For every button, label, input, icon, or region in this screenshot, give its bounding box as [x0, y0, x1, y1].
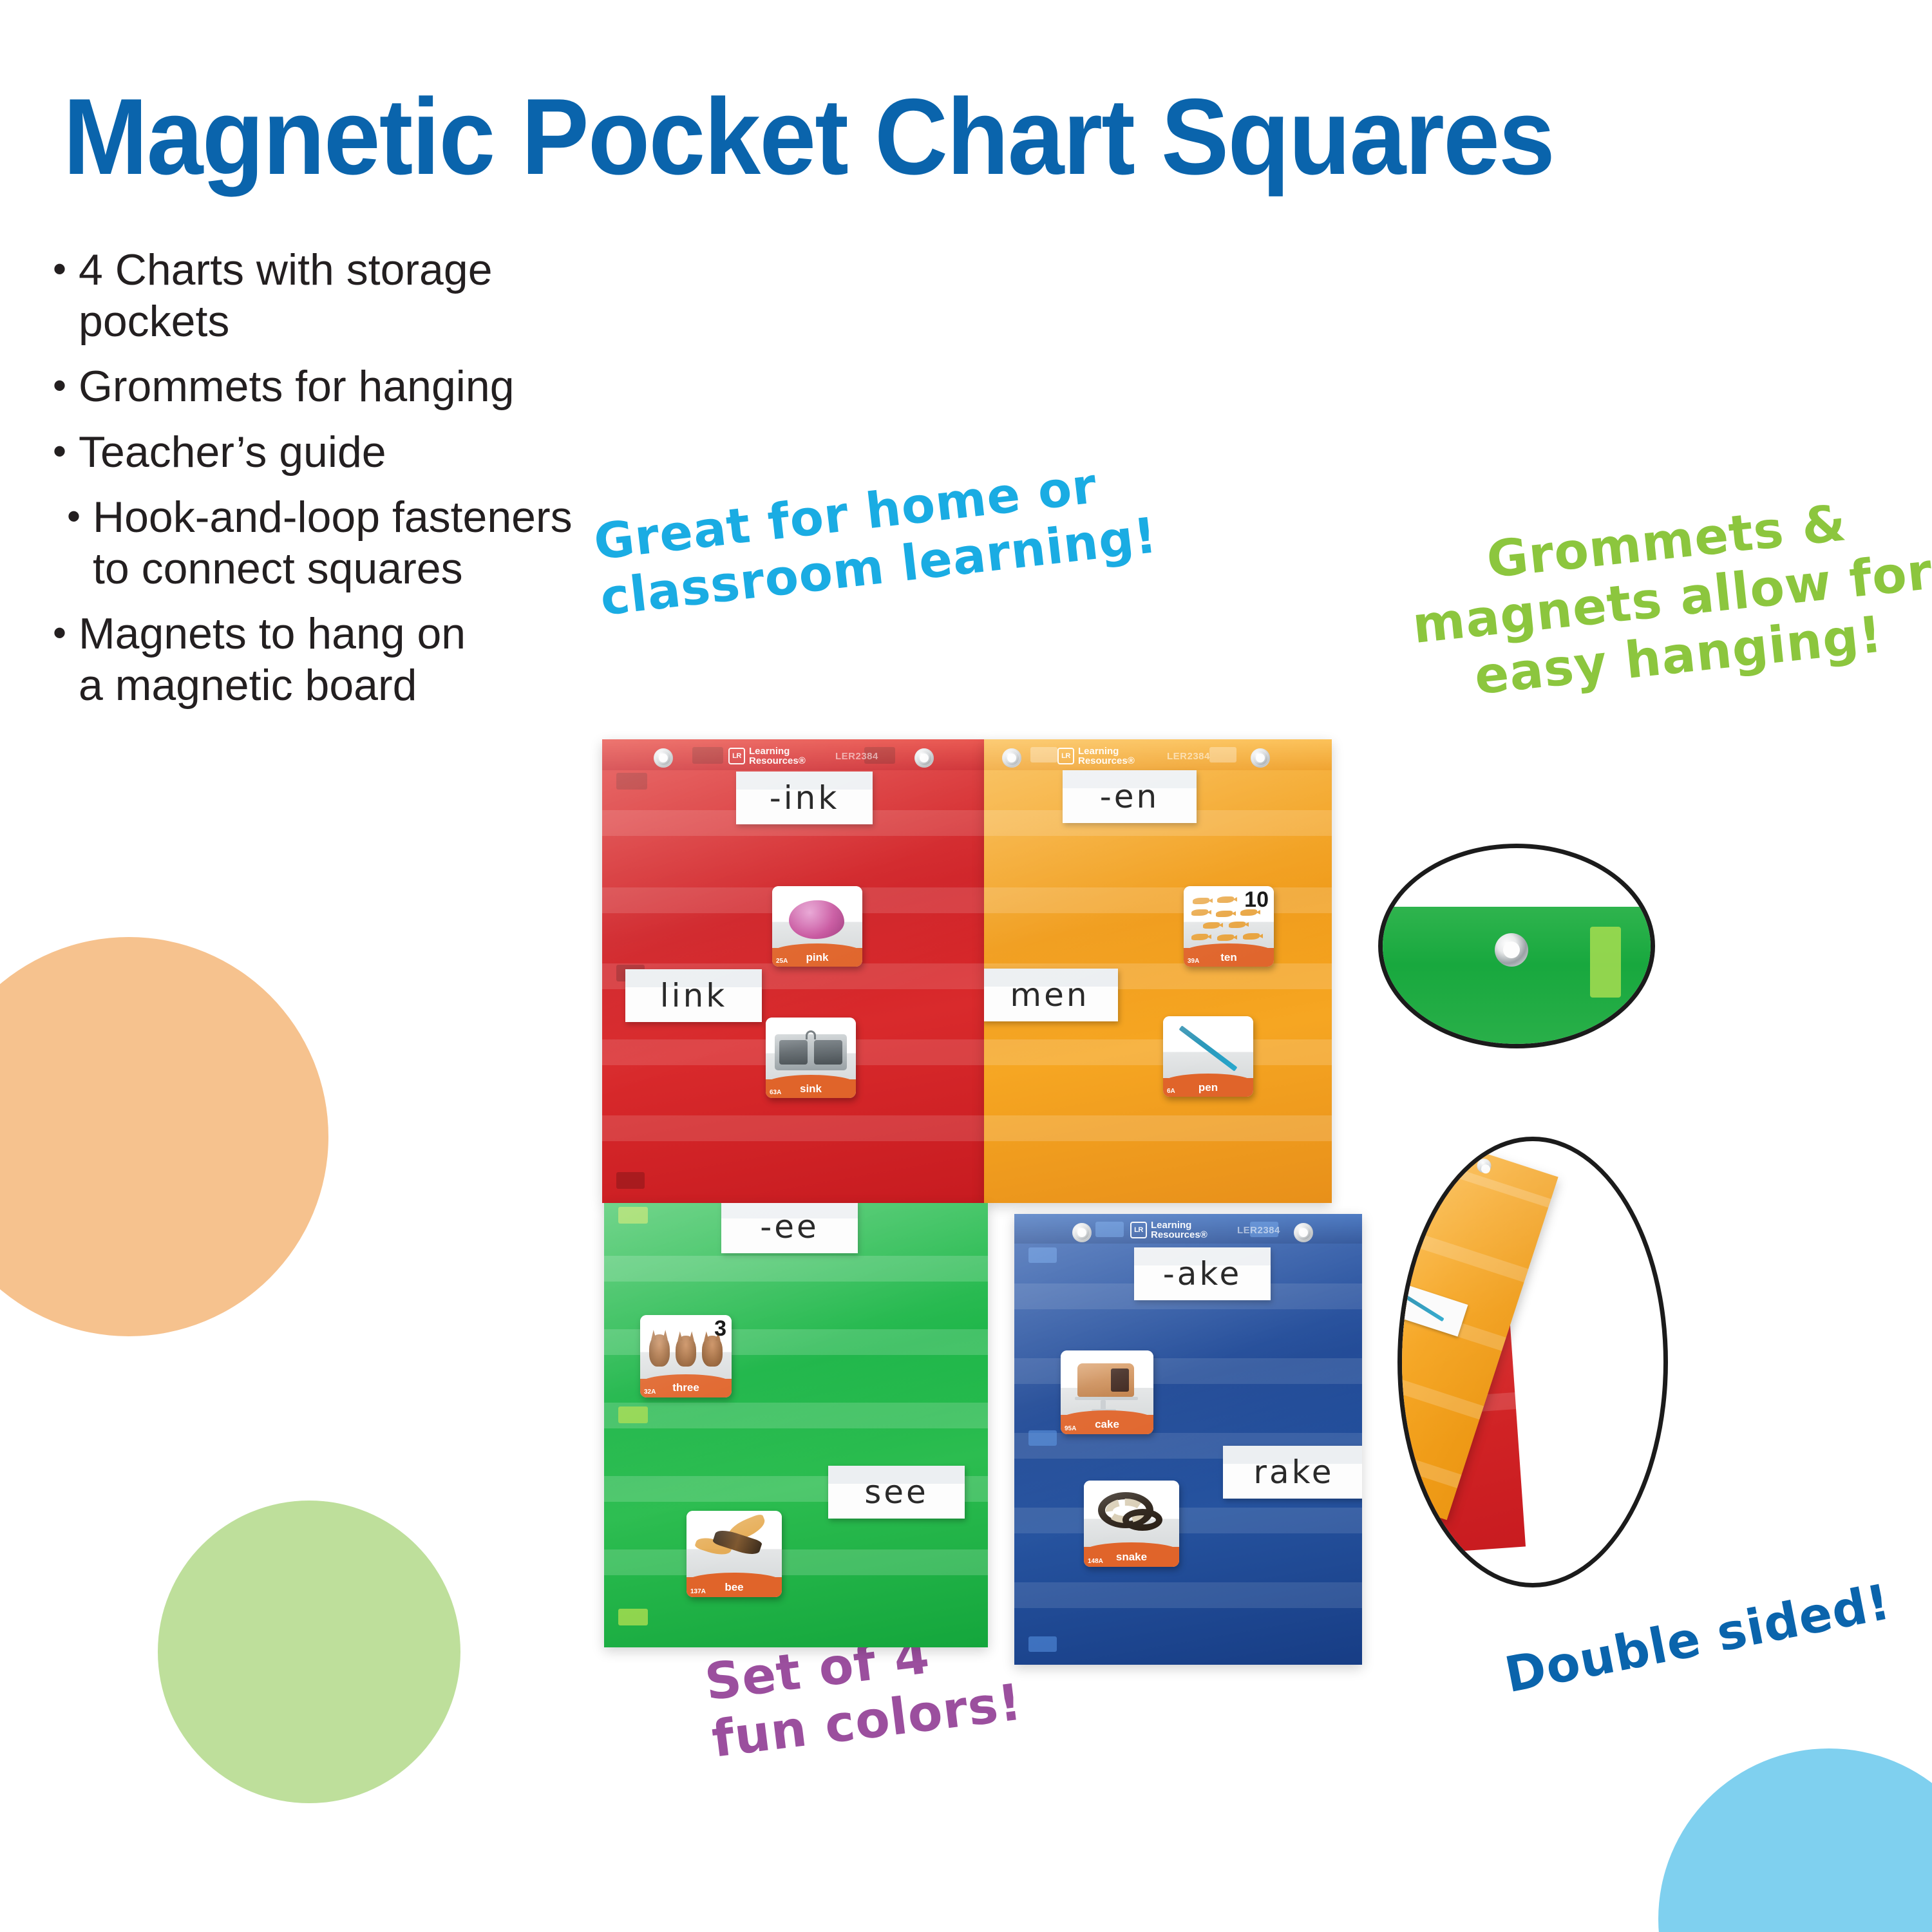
hook-loop-patch	[692, 747, 723, 764]
hook-loop-patch	[618, 1207, 648, 1224]
picture-card[interactable]: 148A snake	[1084, 1481, 1179, 1567]
hook-loop-patch	[616, 1172, 645, 1189]
logo-line1: Learning	[1151, 1220, 1207, 1230]
picture-card-count: 3	[714, 1318, 726, 1340]
feature-item: •4 Charts with storage pockets	[53, 245, 620, 347]
grommet-icon	[1072, 1223, 1092, 1242]
decorative-circle-blue	[1658, 1748, 1932, 1932]
pocket-chart-blue: Learning Resources® LER2384 -ake rake 95…	[1014, 1214, 1362, 1665]
picture-card-code: 63A	[770, 1089, 781, 1096]
hook-loop-patch	[1030, 747, 1057, 762]
picture-card[interactable]: 10 39A ten	[1184, 886, 1274, 967]
page-title: Magnetic Pocket Chart Squares	[63, 82, 1554, 191]
picture-card-code: 25A	[776, 958, 788, 965]
decorative-circle-green	[158, 1501, 460, 1803]
decorative-circle-peach	[0, 937, 328, 1336]
feature-item: •Hook-and-loop fastenersto connect squar…	[53, 492, 620, 594]
kitten-image	[649, 1334, 670, 1367]
picture-card[interactable]: 63A sink	[766, 1018, 856, 1098]
bullet-icon: •	[53, 609, 79, 658]
picture-card-code: 137A	[690, 1588, 706, 1595]
word-card-text: -ee	[760, 1208, 819, 1245]
hook-loop-patch	[1397, 1251, 1417, 1270]
learning-resources-logo: Learning Resources®	[1130, 1220, 1207, 1240]
word-card[interactable]: link	[625, 969, 762, 1022]
logo-line1: Learning	[749, 746, 806, 756]
pocket-chart-red: Learning Resources® LER2384 -ink link 25…	[602, 739, 985, 1203]
grommet-icon	[1251, 748, 1270, 768]
picture-card-label: three	[672, 1381, 699, 1394]
feature-item-label: 4 Charts with storage pockets	[79, 245, 620, 347]
word-card[interactable]: -ee	[721, 1203, 858, 1253]
pocket-chart-orange: Learning Resources® LER2384 -en men 10 3…	[984, 739, 1332, 1203]
word-card-text: -ake	[1163, 1255, 1242, 1293]
word-card-text: link	[660, 977, 727, 1014]
hook-loop-patch	[1028, 1247, 1057, 1263]
picture-card[interactable]: 25A pink	[772, 886, 862, 967]
hook-loop-patch	[1209, 747, 1236, 762]
logo-line2: Resources®	[749, 756, 806, 766]
hook-loop-patch	[618, 1406, 648, 1423]
pen-image	[1399, 1292, 1444, 1321]
grommet-icon	[1002, 748, 1021, 768]
picture-card-code: 32A	[644, 1388, 656, 1396]
detail-oval-grommet	[1378, 844, 1655, 1048]
word-card[interactable]: men	[984, 969, 1118, 1021]
cake-stand	[1075, 1397, 1138, 1400]
picture-card-label: pink	[806, 951, 829, 964]
picture-card-code: 39A	[1188, 958, 1199, 965]
picture-card-label: snake	[1116, 1551, 1147, 1564]
picture-card-label: ten	[1220, 951, 1237, 964]
word-card[interactable]: see	[828, 1466, 965, 1519]
picture-card[interactable]: 95A cake	[1061, 1350, 1153, 1434]
feature-item-label: Magnets to hang ona magnetic board	[79, 609, 620, 711]
hook-loop-patch	[616, 773, 647, 790]
hook-loop-patch	[618, 1609, 648, 1625]
picture-card-label: bee	[724, 1581, 743, 1594]
grommet-icon	[1475, 1157, 1493, 1175]
snake-tail	[1122, 1509, 1162, 1531]
hook-loop-patch	[1028, 1636, 1057, 1652]
logo-line2: Resources®	[1151, 1230, 1207, 1240]
feature-item-label: Grommets for hanging	[79, 361, 620, 413]
hook-loop-patch	[1434, 1143, 1463, 1162]
bullet-icon: •	[67, 492, 93, 541]
picture-card-code: 148A	[1088, 1558, 1103, 1565]
hook-loop-patch	[1028, 1430, 1057, 1446]
word-card-text: men	[1010, 976, 1089, 1014]
learning-resources-logo: Learning Resources®	[1057, 746, 1135, 766]
picture-card-label: sink	[800, 1083, 822, 1095]
picture-card[interactable]: 3 32A three	[640, 1315, 732, 1397]
bullet-icon: •	[53, 245, 79, 294]
lr-cube-icon	[1057, 748, 1074, 764]
detail-oval-double-sided: pink	[1397, 1137, 1668, 1587]
lr-cube-icon	[728, 748, 745, 764]
callout-home-or-classroom: Great for home orclassroom learning!	[591, 452, 1160, 627]
pink-clay-image	[789, 900, 844, 939]
callout-grommets-magnets: Grommets &magnets allow foreasy hanging!	[1404, 486, 1932, 712]
learning-resources-logo: Learning Resources®	[728, 746, 806, 766]
pocket-chart-green: -ee see 3 32A three 137A bee	[604, 1203, 988, 1647]
kitten-image	[676, 1336, 696, 1367]
word-card-text: rake	[1253, 1454, 1334, 1491]
cake-image	[1077, 1363, 1134, 1397]
picture-card[interactable]: 6A pen	[1163, 1016, 1253, 1097]
sku-label: LER2384	[835, 751, 878, 762]
feature-item-label: Hook-and-loop fastenersto connect square…	[93, 492, 620, 594]
sink-image	[775, 1034, 847, 1070]
sku-label: LER2384	[1167, 751, 1210, 762]
bullet-icon: •	[53, 361, 79, 410]
feature-item: •Grommets for hanging	[53, 361, 620, 413]
picture-card-label: pen	[1198, 1081, 1218, 1094]
grommet-icon	[1294, 1223, 1313, 1242]
callout-double-sided: Double sided!	[1501, 1574, 1895, 1703]
logo-line2: Resources®	[1078, 756, 1135, 766]
grommet-icon	[914, 748, 934, 768]
hook-loop-patch-closeup	[1590, 927, 1621, 998]
picture-card-label: cake	[1095, 1418, 1119, 1431]
grommet-icon	[654, 748, 673, 768]
word-card[interactable]: -ink	[736, 772, 873, 824]
lr-cube-icon	[1130, 1222, 1147, 1238]
feature-item-label: Teacher’s guide	[79, 427, 620, 478]
bullet-icon: •	[53, 427, 79, 476]
logo-line1: Learning	[1078, 746, 1135, 756]
word-card-text: -en	[1100, 778, 1160, 815]
picture-card-code: 95A	[1065, 1425, 1076, 1432]
hook-loop-patch	[1095, 1222, 1124, 1237]
feature-list: •4 Charts with storage pockets•Grommets …	[53, 245, 620, 725]
picture-card[interactable]: 137A bee	[687, 1511, 782, 1597]
whiteboard-card-with-pen	[1397, 1282, 1468, 1336]
picture-card-count: 10	[1244, 889, 1269, 911]
word-card[interactable]: -en	[1063, 770, 1197, 823]
feature-item: •Magnets to hang ona magnetic board	[53, 609, 620, 711]
word-card-text: -ink	[770, 779, 840, 817]
grommet-icon	[1495, 933, 1528, 967]
picture-card-code: 6A	[1167, 1088, 1175, 1095]
word-card[interactable]: rake	[1223, 1446, 1362, 1499]
word-card-text: see	[864, 1473, 929, 1511]
word-card[interactable]: -ake	[1134, 1247, 1271, 1300]
pen-image	[1179, 1025, 1237, 1071]
feature-item: •Teacher’s guide	[53, 427, 620, 478]
sku-label: LER2384	[1237, 1225, 1280, 1236]
